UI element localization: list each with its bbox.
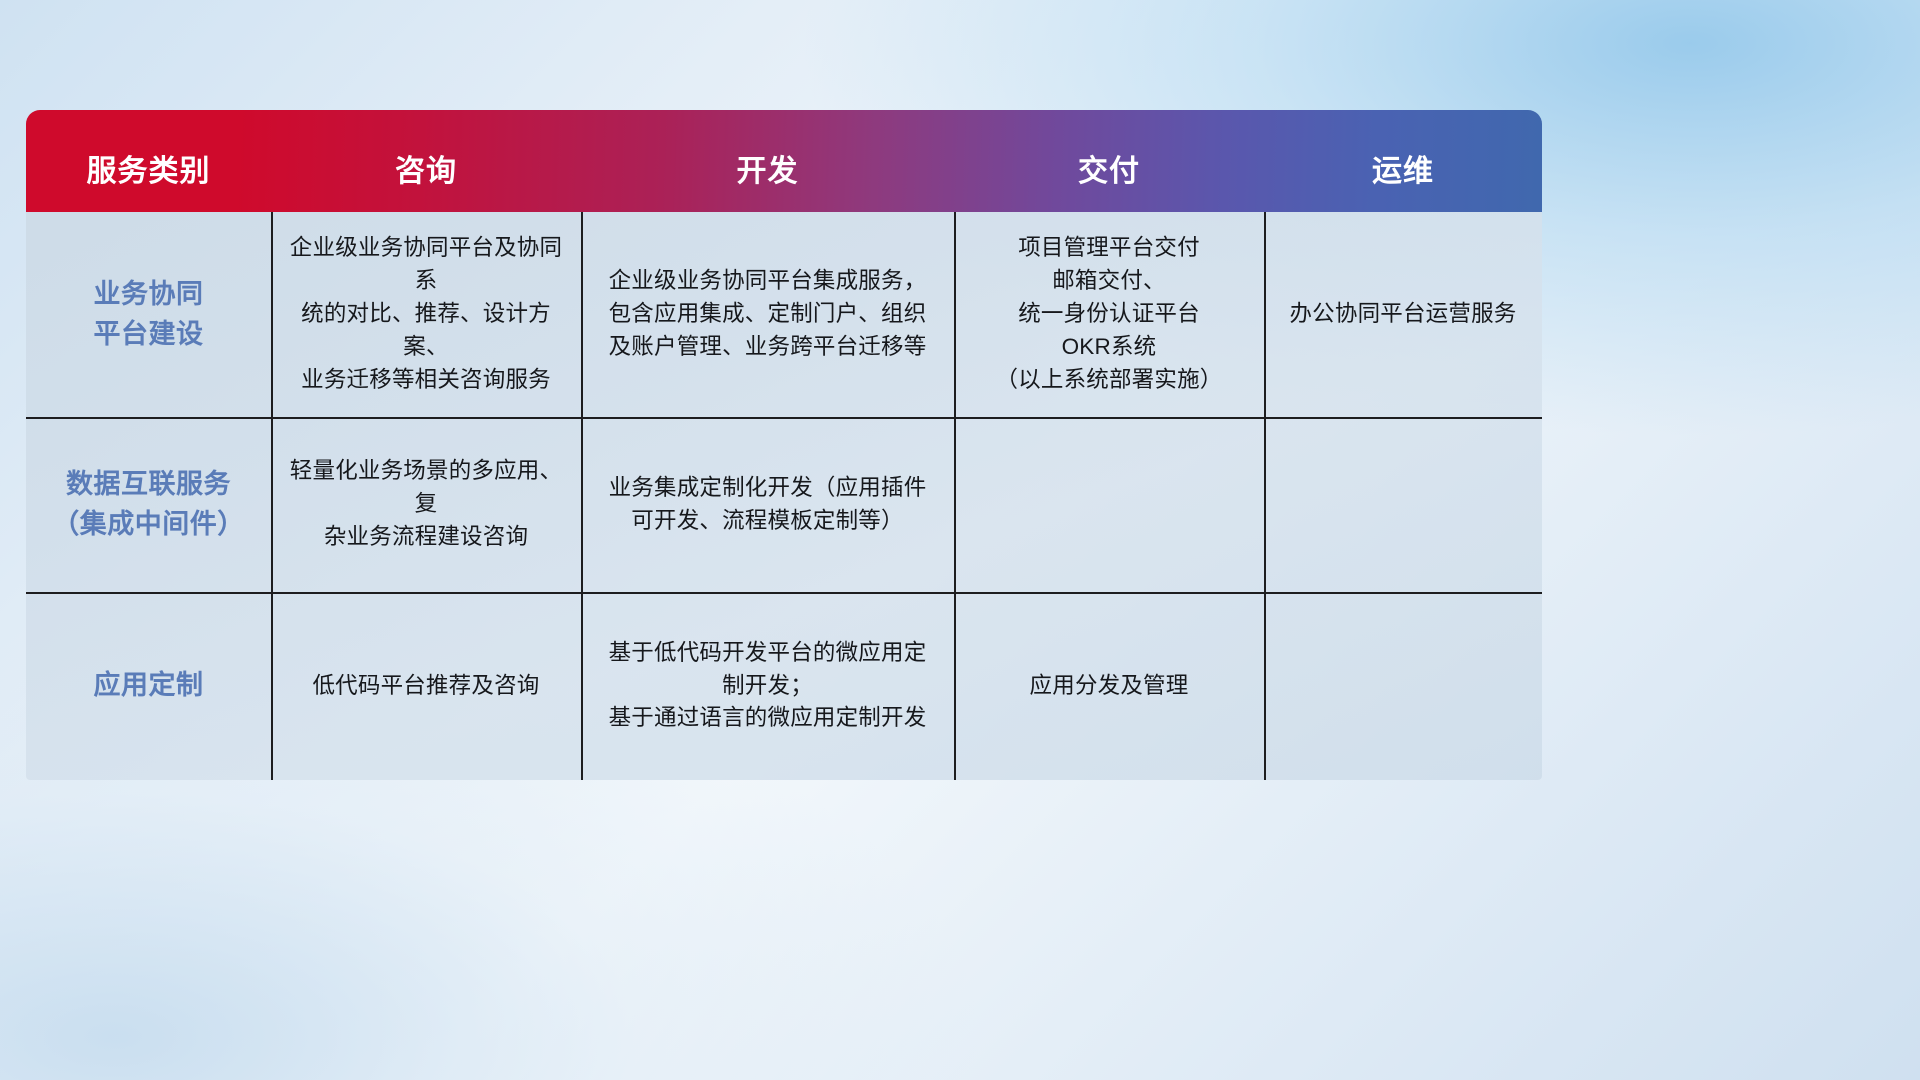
column-operations: 办公协同平台运营服务 (1264, 212, 1542, 780)
service-matrix-table: 服务类别 咨询 开发 交付 运维 业务协同 平台建设 数据互联服务 （集成中间件… (26, 110, 1542, 780)
column-development: 企业级业务协同平台集成服务， 包含应用集成、定制门户、组织 及账户管理、业务跨平… (581, 212, 954, 780)
cell-consulting-row3: 低代码平台推荐及咨询 (312, 670, 539, 703)
header-cell-service-category: 服务类别 (26, 146, 271, 212)
column-delivery: 项目管理平台交付 邮箱交付、 统一身份认证平台 OKR系统 （以上系统部署实施）… (954, 212, 1264, 780)
cell-delivery-row1: 项目管理平台交付 邮箱交付、 统一身份认证平台 OKR系统 （以上系统部署实施） (995, 232, 1222, 396)
table-row: 企业级业务协同平台集成服务， 包含应用集成、定制门户、组织 及账户管理、业务跨平… (581, 212, 954, 417)
table-row: 轻量化业务场景的多应用、复 杂业务流程建设咨询 (271, 417, 581, 592)
table-row: 办公协同平台运营服务 (1264, 212, 1542, 417)
cell-development-row1: 企业级业务协同平台集成服务， 包含应用集成、定制门户、组织 及账户管理、业务跨平… (609, 265, 927, 364)
cell-operations-row1: 办公协同平台运营服务 (1289, 298, 1516, 331)
table-row: 企业级业务协同平台及协同系 统的对比、推荐、设计方案、 业务迁移等相关咨询服务 (271, 212, 581, 417)
row-label-data-interconnect: 数据互联服务 （集成中间件） (52, 465, 245, 543)
cell-development-row3: 基于低代码开发平台的微应用定 制开发； 基于通过语言的微应用定制开发 (609, 637, 927, 736)
table-row: 业务协同 平台建设 (26, 212, 271, 417)
header-cell-consulting: 咨询 (271, 146, 581, 212)
header-cell-delivery: 交付 (954, 146, 1264, 212)
table-row: 业务集成定制化开发（应用插件 可开发、流程模板定制等） (581, 417, 954, 592)
table-row: 低代码平台推荐及咨询 (271, 592, 581, 780)
column-service-category: 业务协同 平台建设 数据互联服务 （集成中间件） 应用定制 (26, 212, 271, 780)
row-label-business-collaboration: 业务协同 平台建设 (94, 275, 204, 353)
header-cell-operations: 运维 (1264, 146, 1542, 212)
cell-delivery-row3: 应用分发及管理 (1030, 670, 1189, 703)
table-row (1264, 417, 1542, 592)
table-row: 项目管理平台交付 邮箱交付、 统一身份认证平台 OKR系统 （以上系统部署实施） (954, 212, 1264, 417)
table-row: 数据互联服务 （集成中间件） (26, 417, 271, 592)
column-consulting: 企业级业务协同平台及协同系 统的对比、推荐、设计方案、 业务迁移等相关咨询服务 … (271, 212, 581, 780)
table-row: 基于低代码开发平台的微应用定 制开发； 基于通过语言的微应用定制开发 (581, 592, 954, 780)
row-label-app-customization: 应用定制 (94, 666, 204, 705)
table-header-row: 服务类别 咨询 开发 交付 运维 (26, 110, 1542, 212)
cell-development-row2: 业务集成定制化开发（应用插件 可开发、流程模板定制等） (609, 472, 927, 538)
table-row: 应用定制 (26, 592, 271, 780)
cell-consulting-row1: 企业级业务协同平台及协同系 统的对比、推荐、设计方案、 业务迁移等相关咨询服务 (287, 232, 565, 396)
table-row (954, 417, 1264, 592)
table-row (1264, 592, 1542, 780)
table-row: 应用分发及管理 (954, 592, 1264, 780)
table-body: 业务协同 平台建设 数据互联服务 （集成中间件） 应用定制 企业级业务协同平台及… (26, 212, 1542, 780)
cell-consulting-row2: 轻量化业务场景的多应用、复 杂业务流程建设咨询 (287, 455, 565, 554)
header-cell-development: 开发 (581, 146, 954, 212)
